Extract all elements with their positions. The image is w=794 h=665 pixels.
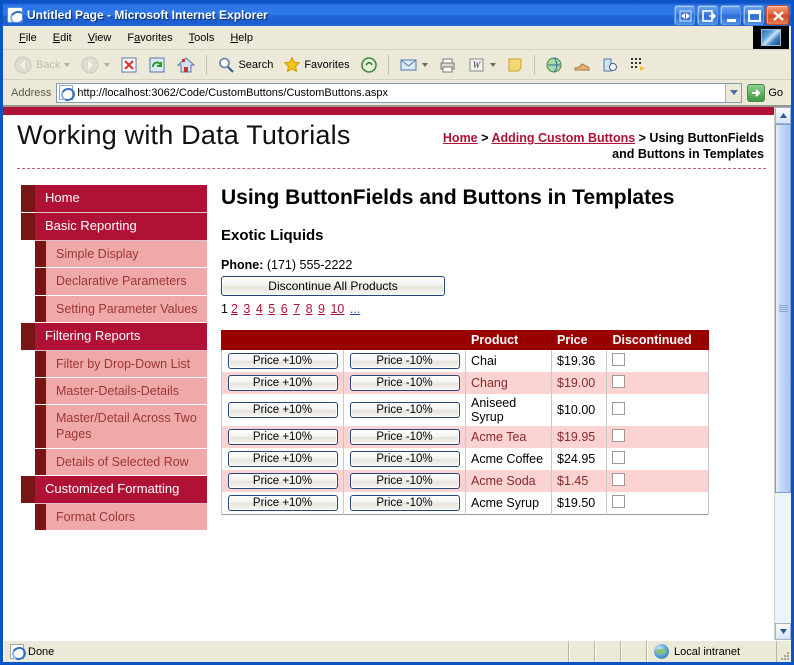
table-row: Price +10% Price -10% Chai $19.36 [222,349,709,372]
pager-link-more[interactable]: ... [350,302,360,316]
home-button[interactable] [172,54,200,76]
cell-discontinued [607,492,709,515]
forward-dropdown-icon[interactable] [104,63,110,67]
messenger-button[interactable] [541,54,567,76]
sidebar-item-home[interactable]: Home [35,185,207,213]
status-cell-1 [569,641,595,662]
stop-button[interactable] [116,54,142,76]
cell-product: Chang [466,372,552,394]
sidebar-item-filtering-reports[interactable]: Filtering Reports [35,323,207,351]
price-decrease-button[interactable]: Price -10% [350,495,460,511]
discontinued-checkbox[interactable] [612,473,625,486]
back-icon [13,55,33,75]
page-content: Working with Data Tutorials Home > Addin… [3,107,774,640]
cell-product: Acme Coffee [466,448,552,470]
shoe-icon [573,56,591,74]
scrollbar-thumb[interactable] [775,124,791,493]
cell-discontinued [607,394,709,426]
breadcrumb: Home > Adding Custom Buttons > Using But… [434,119,764,162]
price-decrease-button[interactable]: Price -10% [350,375,460,391]
price-increase-button[interactable]: Price +10% [228,473,338,489]
cell-product: Acme Syrup [466,492,552,515]
chevron-up-icon [779,111,788,120]
products-grid: Product Price Discontinued Price +10% Pr… [221,330,709,515]
price-increase-button[interactable]: Price +10% [228,353,338,369]
globe-icon [654,644,669,659]
go-button[interactable]: Go [747,84,787,102]
column-discontinued: Discontinued [607,330,709,349]
sidebar-item-master-detail-across-two-pages[interactable]: Master/Detail Across Two Pages [46,405,207,449]
sidebar-item-details-of-selected-row[interactable]: Details of Selected Row [46,449,207,476]
cell-discontinued [607,448,709,470]
ie-brand-logo [753,26,789,49]
phone-value: (171) 555-2222 [267,258,352,272]
research-button[interactable] [597,54,623,76]
pager-link-6[interactable]: 6 [281,302,288,316]
minimize-button[interactable] [720,5,741,25]
print-button[interactable] [434,54,461,76]
search-label: Search [238,59,273,71]
print-icon [438,56,457,74]
back-label: Back [36,59,60,71]
status-bar: Done Local intranet [3,640,791,662]
menu-tools[interactable]: Tools [181,29,223,47]
ie-document-icon [7,7,23,23]
stop-icon [120,56,138,74]
pager-link-5[interactable]: 5 [268,302,275,316]
price-increase-button[interactable]: Price +10% [228,495,338,511]
edit-word-button[interactable]: W [463,54,500,76]
table-row: Price +10% Price -10% Chang $19.00 [222,372,709,394]
toolbar-separator-3 [534,55,535,75]
cell-product: Chai [466,349,552,372]
pager: 12 3 4 5 6 7 8 9 10 ... [221,302,756,316]
column-increase [222,330,344,349]
pager-link-9[interactable]: 9 [318,302,325,316]
home-icon [176,56,196,74]
sidebar-item-setting-parameter-values[interactable]: Setting Parameter Values [46,296,207,323]
cell-price: $19.95 [552,426,607,448]
table-row: Price +10% Price -10% Acme Syrup $19.50 [222,492,709,515]
content-heading: Using ButtonFields and Buttons in Templa… [221,185,756,211]
sidebar-item-customized-formatting[interactable]: Customized Formatting [35,476,207,504]
discontinue-all-products-button[interactable]: Discontinue All Products [221,276,445,296]
cell-price: $19.36 [552,349,607,372]
back-button[interactable]: Back [9,53,74,77]
supplier-name: Exotic Liquids [221,227,756,244]
cell-price: $24.95 [552,448,607,470]
search-icon [217,56,235,74]
sidebar-item-basic-reporting[interactable]: Basic Reporting [35,213,207,241]
page-top-accent-bar [3,107,774,115]
scroll-down-button[interactable] [775,623,791,640]
scrollbar-grip-icon [779,305,788,312]
menu-bar: FFileile Edit View Favorites Tools Help [3,26,791,50]
edit-word-icon: W [467,56,486,74]
price-decrease-button[interactable]: Price -10% [350,451,460,467]
favorites-label: Favorites [304,59,349,71]
encoding-button[interactable] [625,54,651,76]
browser-toolbar: Back Search Favorites [3,50,791,80]
vertical-scrollbar[interactable] [774,107,791,640]
window-controls [674,5,789,25]
price-decrease-button[interactable]: Price -10% [350,473,460,489]
mail-dropdown-icon[interactable] [422,63,428,67]
cell-price: $19.00 [552,372,607,394]
pager-link-2[interactable]: 2 [231,302,238,316]
cell-discontinued [607,470,709,492]
cell-product: Aniseed Syrup [466,394,552,426]
status-page-icon [10,644,24,659]
discontinued-checkbox[interactable] [612,402,625,415]
resize-grip-icon[interactable] [777,641,791,662]
research-icon [601,56,619,74]
menu-file[interactable]: FFileile [11,29,45,47]
export-button[interactable] [697,5,718,25]
cell-product: Acme Tea [466,426,552,448]
window-title: Untitled Page - Microsoft Internet Explo… [27,8,674,22]
pager-current-page: 1 [221,302,228,316]
cell-discontinued [607,372,709,394]
price-decrease-button[interactable]: Price -10% [350,402,460,418]
main-content: Using ButtonFields and Buttons in Templa… [207,169,774,515]
page-body: Home Basic Reporting Simple Display Decl… [3,169,774,531]
page-icon [59,85,73,100]
sidebar: Home Basic Reporting Simple Display Decl… [3,169,207,531]
maximize-button[interactable] [743,5,764,25]
messenger-icon [545,56,563,74]
media-icon [360,56,378,74]
price-decrease-button[interactable]: Price -10% [350,429,460,445]
cell-price: $1.45 [552,470,607,492]
price-increase-button[interactable]: Price +10% [228,451,338,467]
status-cell-2 [595,641,621,662]
cell-discontinued [607,349,709,372]
pager-link-3[interactable]: 3 [243,302,250,316]
toolbar-separator [206,55,207,75]
scroll-up-button[interactable] [775,107,791,124]
phone-line: Phone: (171) 555-2222 [221,258,756,272]
discontinued-checkbox[interactable] [612,353,625,366]
pager-link-10[interactable]: 10 [330,302,344,316]
price-increase-button[interactable]: Price +10% [228,429,338,445]
status-text: Done [28,646,54,658]
address-bar: Address http://localhost:3062/Code/Custo… [3,80,791,106]
table-header-row: Product Price Discontinued [222,330,709,349]
chevron-down-icon [779,627,788,636]
go-arrow-icon [747,84,765,102]
column-product: Product [466,330,552,349]
table-body: Price +10% Price -10% Chai $19.36 Price … [222,349,709,514]
status-cell-3 [621,641,647,662]
go-label: Go [768,87,783,99]
menu-view[interactable]: View [80,29,120,47]
discontinued-checkbox[interactable] [612,451,625,464]
discontinued-checkbox[interactable] [612,495,625,508]
cell-discontinued [607,426,709,448]
table-row: Price +10% Price -10% Aniseed Syrup $10.… [222,394,709,426]
cell-price: $19.50 [552,492,607,515]
breadcrumb-section-link[interactable]: Adding Custom Buttons [491,131,635,145]
page-title: Working with Data Tutorials [17,119,434,153]
price-increase-button[interactable]: Price +10% [228,402,338,418]
price-decrease-button[interactable]: Price -10% [350,353,460,369]
sidebar-item-simple-display[interactable]: Simple Display [46,241,207,268]
media-button[interactable] [356,54,382,76]
notes-icon [506,56,524,74]
page-header: Working with Data Tutorials Home > Addin… [3,115,774,162]
price-increase-button[interactable]: Price +10% [228,375,338,391]
toolbar-separator-2 [388,55,389,75]
restore-group-button[interactable] [674,5,695,25]
close-button[interactable] [766,5,789,25]
address-label: Address [11,87,51,99]
address-url-text: http://localhost:3062/Code/CustomButtons… [77,87,721,99]
cell-price: $10.00 [552,394,607,426]
sidebar-item-format-colors[interactable]: Format Colors [46,504,207,531]
sidebar-item-filter-by-drop-down-list[interactable]: Filter by Drop-Down List [46,351,207,378]
discontinued-checkbox[interactable] [612,375,625,388]
column-decrease [344,330,466,349]
mail-button[interactable] [395,54,432,76]
breadcrumb-sep-2: > [635,131,649,145]
cell-product: Acme Soda [466,470,552,492]
menu-help[interactable]: Help [222,29,261,47]
mail-icon [399,56,418,74]
refresh-button[interactable] [144,54,170,76]
edit-dropdown-icon[interactable] [490,63,496,67]
notes-button[interactable] [502,54,528,76]
forward-icon [80,55,100,75]
table-row: Price +10% Price -10% Acme Coffee $24.95 [222,448,709,470]
security-zone[interactable]: Local intranet [647,641,777,662]
shoe-button[interactable] [569,54,595,76]
back-dropdown-icon[interactable] [64,63,70,67]
favorites-icon [283,56,301,74]
table-row: Price +10% Price -10% Acme Soda $1.45 [222,470,709,492]
phone-label: Phone: [221,258,263,272]
discontinued-checkbox[interactable] [612,429,625,442]
forward-button[interactable] [76,53,114,77]
breadcrumb-home-link[interactable]: Home [443,131,478,145]
favorites-button[interactable]: Favorites [279,54,353,76]
pager-link-8[interactable]: 8 [306,302,313,316]
column-price: Price [552,330,607,349]
breadcrumb-sep-1: > [478,131,492,145]
zone-label: Local intranet [674,646,740,658]
page-viewport: Working with Data Tutorials Home > Addin… [3,106,791,640]
address-dropdown-button[interactable] [725,84,741,102]
title-bar: Untitled Page - Microsoft Internet Explo… [3,0,791,26]
menu-favorites[interactable]: Favorites [119,29,180,47]
sidebar-item-declarative-parameters[interactable]: Declarative Parameters [46,268,207,295]
encoding-icon [629,56,647,74]
pager-link-4[interactable]: 4 [256,302,263,316]
browser-window: Untitled Page - Microsoft Internet Explo… [0,0,794,665]
status-message-area: Done [3,641,569,662]
pager-link-7[interactable]: 7 [293,302,300,316]
refresh-icon [148,56,166,74]
menu-edit[interactable]: Edit [45,29,80,47]
scrollbar-track[interactable] [775,124,791,623]
table-row: Price +10% Price -10% Acme Tea $19.95 [222,426,709,448]
search-button[interactable]: Search [213,54,277,76]
sidebar-item-master-details-details[interactable]: Master-Details-Details [46,378,207,405]
address-input[interactable]: http://localhost:3062/Code/CustomButtons… [56,83,742,103]
